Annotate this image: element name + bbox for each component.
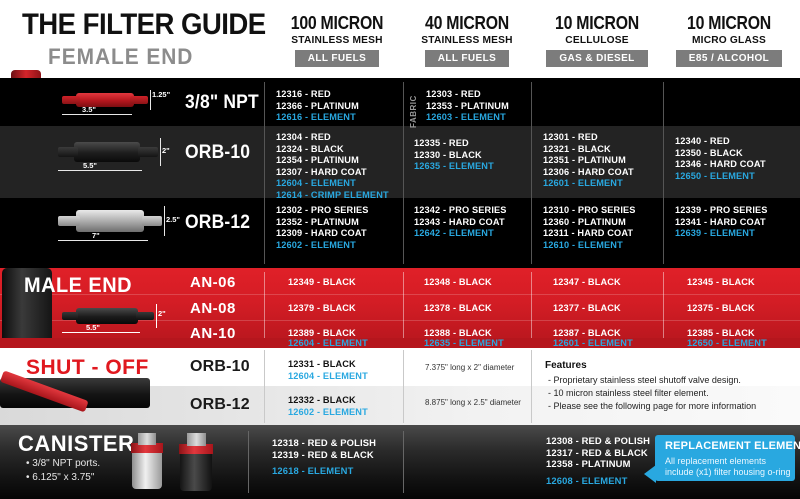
- dim-line-diameter-orb10: [160, 138, 161, 166]
- shutoff-orb10-dimension: 7.375" long x 2" diameter: [425, 363, 514, 372]
- row-label-an-08: AN-08: [190, 300, 236, 317]
- callout-subtext: All replacement elements include (x1) fi…: [665, 456, 791, 478]
- column-media-label: CELLULOSE: [530, 34, 664, 46]
- column-fuel-badge: GAS & DIESEL: [546, 50, 647, 67]
- dim-line-length-orb10: [58, 170, 142, 171]
- cell-an08-10micron-cellulose: 12377 - BLACK: [553, 303, 621, 315]
- cell-an08-10micron-microglass: 12375 - BLACK: [687, 303, 755, 315]
- canister-title: CANISTER: [18, 431, 134, 457]
- cell-orb10-40micron: 12335 - RED 12330 - BLACK 12635 - ELEMEN…: [414, 138, 494, 173]
- column-header-100-micron: 100 MICRON STAINLESS MESH ALL FUELS: [267, 14, 407, 67]
- cell-orb12-10micron-microglass: 12339 - PRO SERIES 12341 - HARD COAT 126…: [675, 205, 768, 240]
- dim-line-diameter-npt: [150, 90, 151, 110]
- column-media-label: STAINLESS MESH: [400, 34, 534, 46]
- divider-col2-col3: [531, 272, 532, 344]
- column-media-label: STAINLESS MESH: [269, 34, 405, 46]
- column-micron-label: 100 MICRON: [275, 14, 398, 33]
- column-fuel-badge: ALL FUELS: [295, 50, 379, 67]
- dim-diameter-npt: 1.25": [152, 90, 170, 99]
- canister-thumbnail-polish: [128, 433, 166, 489]
- product-thumbnail-orb-12: [58, 206, 162, 236]
- dim-length-male: 5.5": [86, 323, 100, 332]
- header: THE FILTER GUIDE FEMALE END 100 MICRON S…: [0, 0, 800, 78]
- callout-title: REPLACEMENT ELEMENTS: [665, 440, 800, 452]
- cell-canister-col3: 12308 - RED & POLISH 12317 - RED & BLACK…: [546, 435, 650, 486]
- dim-line-length-npt: [62, 114, 132, 115]
- column-fuel-badge: ALL FUELS: [425, 50, 509, 67]
- canister-section: CANISTER • 3/8" NPT ports. • 6.125" x 3.…: [0, 425, 800, 499]
- shut-off-title: SHUT - OFF: [26, 356, 149, 380]
- cell-orb10-10micron-cellulose: 12301 - RED 12321 - BLACK 12351 - PLATIN…: [543, 132, 634, 190]
- feature-item: - Please see the following page for more…: [548, 401, 756, 411]
- dim-line-diameter-orb12: [164, 206, 165, 236]
- callout-tail-icon: [644, 465, 656, 483]
- row-label-3-8-npt: 3/8" NPT: [185, 92, 259, 114]
- cell-canister-col1: 12318 - RED & POLISH 12319 - RED & BLACK…: [272, 437, 376, 477]
- cell-an06-10micron-microglass: 12345 - BLACK: [687, 277, 755, 289]
- row-label-orb-12: ORB-12: [185, 212, 250, 234]
- column-micron-label: 10 MICRON: [536, 14, 657, 33]
- divider-col2-col3: [531, 82, 532, 264]
- column-media-label: MICRO GLASS: [662, 34, 796, 46]
- shut-off-section: SHUT - OFF ORB-10 ORB-12 12331 - BLACK 1…: [0, 348, 800, 425]
- cell-npt-40micron: 12303 - RED 12353 - PLATINUM 12603 - ELE…: [426, 89, 509, 124]
- column-fuel-badge: E85 / ALCOHOL: [676, 50, 782, 67]
- female-end-section: 3.5" 1.25" 3/8" NPT 12316 - RED 12366 - …: [0, 78, 800, 268]
- male-end-section: MALE END 5.5" 2" AN-06 AN-08 AN-10 12349…: [0, 268, 800, 348]
- feature-item: - 10 micron stainless steel filter eleme…: [548, 388, 709, 398]
- cell-orb10-10micron-microglass: 12340 - RED 12350 - BLACK 12346 - HARD C…: [675, 136, 766, 182]
- section-subtitle-female-end: FEMALE END: [48, 44, 193, 70]
- divider-col1-col2: [403, 272, 404, 344]
- male-end-title: MALE END: [24, 274, 132, 298]
- dim-diameter-male: 2": [158, 309, 166, 318]
- cell-orb10-100micron: 12304 - RED 12324 - BLACK 12354 - PLATIN…: [276, 132, 389, 202]
- cell-shutoff-orb10-part: 12331 - BLACK: [288, 359, 356, 371]
- divider-label-col: [264, 350, 265, 423]
- cell-an08-100micron: 12379 - BLACK: [288, 303, 356, 315]
- cell-shutoff-orb10-element: 12604 - ELEMENT: [288, 371, 368, 383]
- divider-col3-col4: [663, 272, 664, 344]
- canister-bullet: • 3/8" NPT ports.: [26, 458, 100, 469]
- canister-thumbnail-black: [176, 433, 216, 491]
- row-label-orb-10: ORB-10: [185, 142, 250, 164]
- dim-line-diameter-male: [156, 304, 157, 328]
- canister-bullet: • 6.125" x 3.75": [26, 472, 94, 483]
- product-thumbnail-orb-10: [58, 138, 158, 166]
- dim-length-npt: 3.5": [82, 105, 96, 114]
- dim-diameter-orb12: 2.5": [166, 215, 180, 224]
- divider-label-col: [264, 82, 265, 264]
- features-title: Features: [545, 360, 587, 371]
- fabric-vertical-tag: FABRIC: [409, 95, 418, 128]
- feature-item: - Proprietary stainless steel shutoff va…: [548, 375, 741, 385]
- divider-col2-features: [531, 350, 532, 423]
- column-header-40-micron: 40 MICRON STAINLESS MESH ALL FUELS: [398, 14, 536, 67]
- cell-orb12-100micron: 12302 - PRO SERIES 12352 - PLATINUM 1230…: [276, 205, 369, 251]
- column-micron-label: 40 MICRON: [406, 14, 527, 33]
- column-header-10-micron-micro-glass: 10 MICRON MICRO GLASS E85 / ALCOHOL: [660, 14, 798, 67]
- row-label-shutoff-orb-10: ORB-10: [190, 358, 250, 376]
- cell-orb12-10micron-cellulose: 12310 - PRO SERIES 12360 - PLATINUM 1231…: [543, 205, 636, 251]
- product-thumbnail-3-8-npt: [62, 90, 148, 110]
- shutoff-orb12-dimension: 8.875" long x 2.5" diameter: [425, 398, 521, 407]
- cell-an06-40micron: 12348 - BLACK: [424, 277, 492, 289]
- cell-orb12-40micron: 12342 - PRO SERIES 12343 - HARD COAT 126…: [414, 205, 507, 240]
- cell-npt-100micron: 12316 - RED 12366 - PLATINUM 12616 - ELE…: [276, 89, 359, 124]
- divider-col1-col2: [403, 82, 404, 264]
- row-label-an-06: AN-06: [190, 274, 236, 291]
- dim-length-orb12: 7": [92, 231, 100, 240]
- cell-shutoff-orb12-element: 12602 - ELEMENT: [288, 407, 368, 419]
- column-micron-label: 10 MICRON: [668, 14, 789, 33]
- divider-canister-col1: [403, 431, 404, 493]
- dim-line-length-orb12: [58, 240, 148, 241]
- cell-shutoff-orb12-part: 12332 - BLACK: [288, 395, 356, 407]
- cell-an06-10micron-cellulose: 12347 - BLACK: [553, 277, 621, 289]
- dim-length-orb10: 5.5": [83, 161, 97, 170]
- filter-guide-sheet: THE FILTER GUIDE FEMALE END 100 MICRON S…: [0, 0, 800, 499]
- cell-an08-40micron: 12378 - BLACK: [424, 303, 492, 315]
- divider-col1-col2: [403, 350, 404, 423]
- replacement-elements-callout: REPLACEMENT ELEMENTS All replacement ele…: [655, 435, 795, 481]
- divider-col3-col4: [663, 82, 664, 264]
- dim-diameter-orb10: 2": [162, 146, 170, 155]
- divider-canister-label: [248, 431, 249, 493]
- page-title: THE FILTER GUIDE: [22, 8, 266, 42]
- product-thumbnail-male-end: [62, 304, 154, 328]
- cell-an06-100micron: 12349 - BLACK: [288, 277, 356, 289]
- dim-line-length-male: [62, 332, 140, 333]
- column-header-10-micron-cellulose: 10 MICRON CELLULOSE GAS & DIESEL: [528, 14, 666, 67]
- row-label-shutoff-orb-12: ORB-12: [190, 396, 250, 414]
- divider-label-col: [264, 272, 265, 344]
